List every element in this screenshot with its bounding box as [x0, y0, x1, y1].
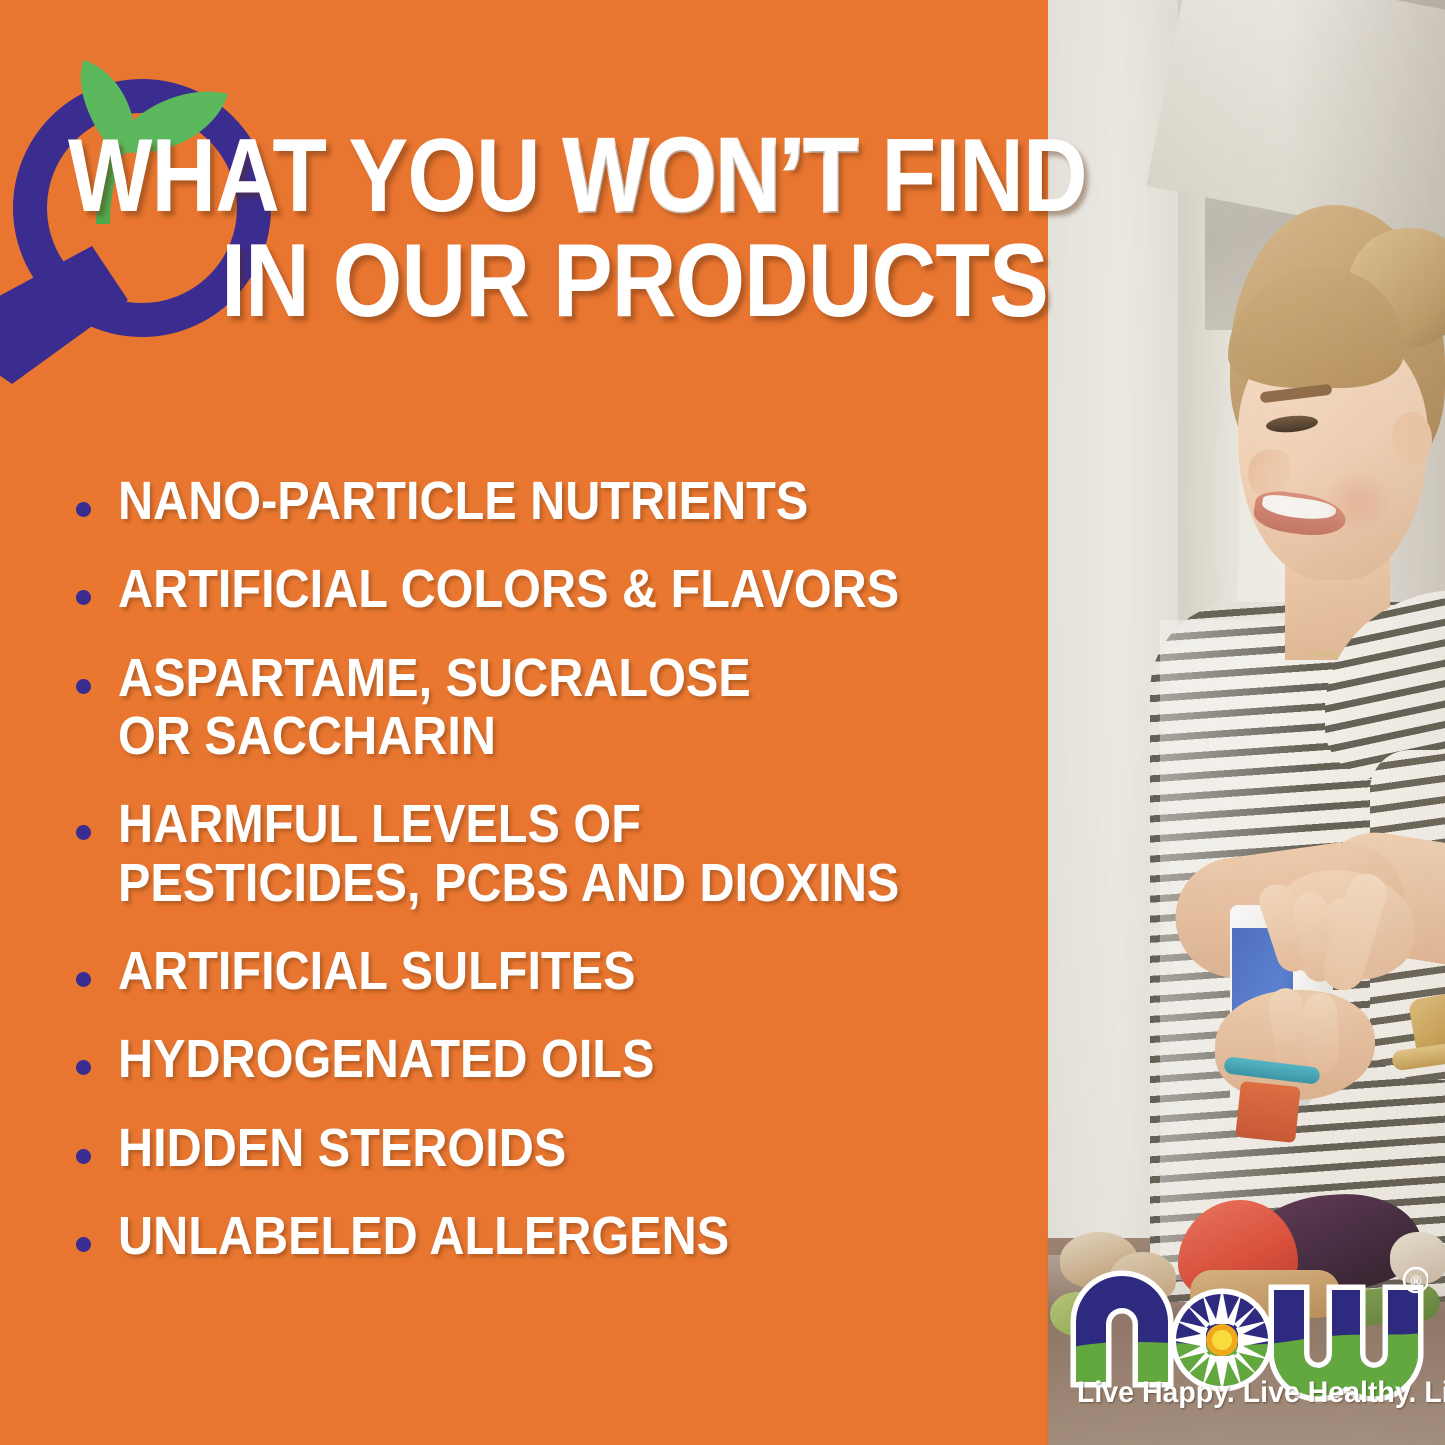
bullet-dot-icon — [76, 825, 91, 840]
list-item: ARTIFICIAL SULFITES — [68, 942, 1048, 1000]
list-item-label: HYDROGENATED OILS — [118, 1030, 955, 1088]
bullet-dot-icon — [76, 502, 91, 517]
list-item: UNLABELED ALLERGENS — [68, 1207, 1048, 1265]
bullet-dot-icon — [76, 590, 91, 605]
exclusion-list: NANO-PARTICLE NUTRIENTS ARTIFICIAL COLOR… — [68, 472, 1048, 1265]
list-item: HARMFUL LEVELS OF PESTICIDES, PCBS AND D… — [68, 795, 1048, 912]
list-item-label: ARTIFICIAL SULFITES — [118, 942, 955, 1000]
list-item: NANO-PARTICLE NUTRIENTS — [68, 472, 1048, 530]
headline-post: FIND — [858, 118, 1087, 234]
bullet-dot-icon — [76, 1237, 91, 1252]
promotional-image: WHAT YOU WON’T FIND IN OUR PRODUCTS NANO… — [0, 0, 1445, 1445]
page-title: WHAT YOU WON’T FIND IN OUR PRODUCTS — [68, 128, 1408, 329]
brand-tagline: Live Happy. Live Healthy. Live NOW. — [1077, 1376, 1419, 1410]
headline-emphasis: WON’T — [564, 118, 858, 234]
bullet-dot-icon — [76, 1060, 91, 1075]
bullet-dot-icon — [76, 679, 91, 694]
headline-line-2: IN OUR PRODUCTS — [68, 233, 1220, 330]
list-item: HIDDEN STEROIDS — [68, 1119, 1048, 1177]
registered-mark-glyph: ® — [1410, 1273, 1421, 1290]
list-item-label: HARMFUL LEVELS OF PESTICIDES, PCBS AND D… — [118, 795, 955, 912]
list-item-label: ARTIFICIAL COLORS & FLAVORS — [118, 560, 955, 618]
bullet-dot-icon — [76, 972, 91, 987]
list-item: ASPARTAME, SUCRALOSE OR SACCHARIN — [68, 649, 1048, 766]
list-item-label: ASPARTAME, SUCRALOSE OR SACCHARIN — [118, 649, 955, 766]
headline-line-1: WHAT YOU WON’T FIND — [68, 128, 1220, 225]
list-item: ARTIFICIAL COLORS & FLAVORS — [68, 560, 1048, 618]
list-item-label: NANO-PARTICLE NUTRIENTS — [118, 472, 955, 530]
headline-pre: WHAT YOU — [68, 118, 564, 234]
registered-trademark-icon: ® — [1404, 1268, 1428, 1292]
list-item: HYDROGENATED OILS — [68, 1030, 1048, 1088]
list-item-label: HIDDEN STEROIDS — [118, 1119, 955, 1177]
bullet-dot-icon — [76, 1149, 91, 1164]
list-item-label: UNLABELED ALLERGENS — [118, 1207, 955, 1265]
